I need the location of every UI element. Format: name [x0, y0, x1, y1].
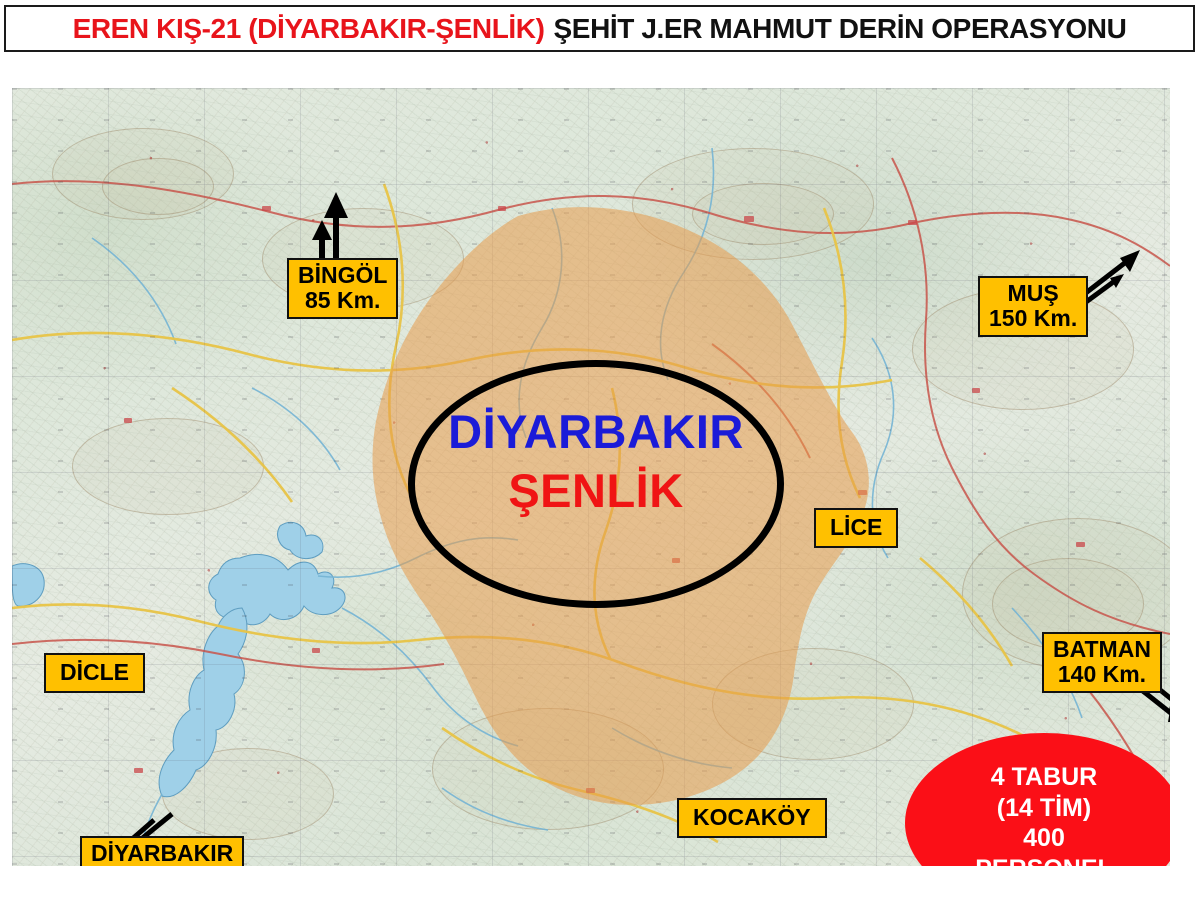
place-tag-diyarbakir-name: DİYARBAKIR [91, 841, 233, 866]
operation-map-page: EREN KIŞ-21 (DİYARBAKIR-ŞENLİK) ŞEHİT J.… [0, 0, 1200, 900]
place-tag-mus-name: MUŞ [989, 281, 1077, 306]
title-operation-name: EREN KIŞ-21 (DİYARBAKIR-ŞENLİK) [73, 15, 545, 43]
place-tag-bingol-name: BİNGÖL [298, 263, 387, 288]
place-tag-dicle[interactable]: DİCLE [44, 653, 145, 693]
topographic-map[interactable]: DİYARBAKIR ŞENLİK [12, 88, 1170, 866]
operation-label: ŞENLİK [408, 467, 784, 514]
place-tag-lice-name: LİCE [830, 515, 882, 540]
place-tag-mus-distance: 150 Km. [989, 306, 1077, 331]
place-tag-mus[interactable]: MUŞ 150 Km. [978, 276, 1088, 337]
place-tag-lice[interactable]: LİCE [814, 508, 898, 548]
center-label-group: DİYARBAKIR ŞENLİK [408, 408, 784, 514]
place-tag-diyarbakir[interactable]: DİYARBAKIR 70 Km. [80, 836, 244, 866]
force-count: 400 [1023, 823, 1065, 854]
force-teams: (14 TİM) [997, 793, 1091, 824]
place-tag-kocakoy-name: KOCAKÖY [693, 805, 811, 830]
province-label: DİYARBAKIR [408, 408, 784, 455]
place-tag-batman[interactable]: BATMAN 140 Km. [1042, 632, 1162, 693]
title-bar: EREN KIŞ-21 (DİYARBAKIR-ŞENLİK) ŞEHİT J.… [4, 5, 1195, 52]
place-tag-batman-name: BATMAN [1053, 637, 1151, 662]
place-tag-dicle-name: DİCLE [60, 660, 129, 685]
force-personnel-label: PERSONEL [975, 854, 1113, 867]
title-operation-subject: ŞEHİT J.ER MAHMUT DERİN OPERASYONU [554, 15, 1127, 43]
place-tag-bingol[interactable]: BİNGÖL 85 Km. [287, 258, 398, 319]
force-battalions: 4 TABUR [991, 762, 1097, 793]
place-tag-bingol-distance: 85 Km. [298, 288, 387, 313]
place-tag-kocakoy[interactable]: KOCAKÖY [677, 798, 827, 838]
place-tag-batman-distance: 140 Km. [1053, 662, 1151, 687]
